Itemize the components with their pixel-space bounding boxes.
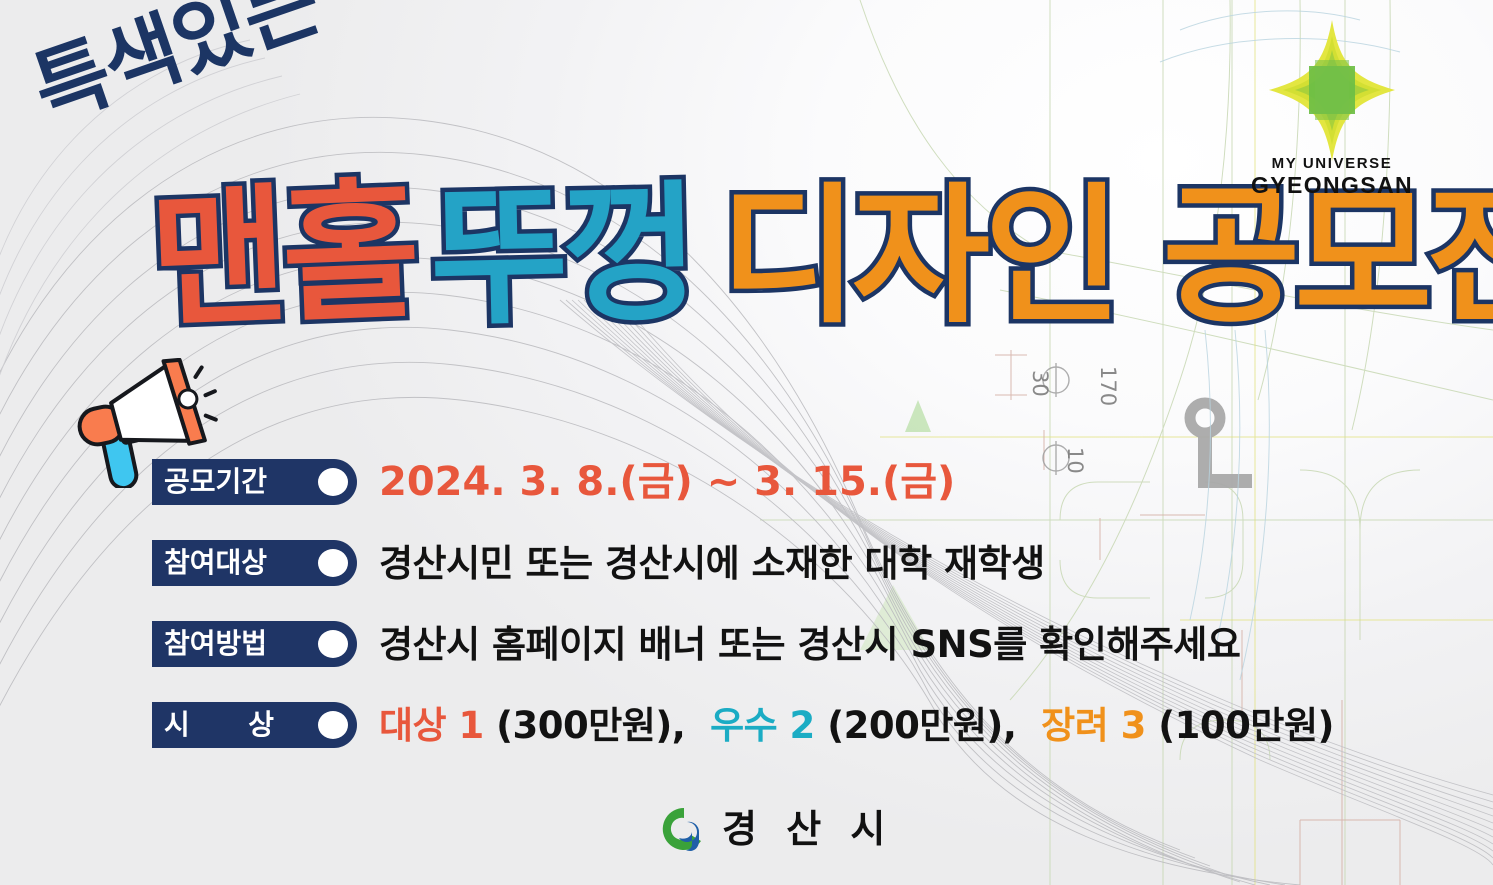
prize-name-encouragement: 장려 3 [1041, 704, 1146, 747]
pill-dot-icon [318, 549, 348, 577]
prize-amount-excellence: (200만원), [827, 704, 1016, 747]
brand-line-1: MY UNIVERSE [1232, 155, 1432, 172]
pill-dot-icon [318, 468, 348, 496]
info-row-period: 공모기간 2024. 3. 8.(금) ~ 3. 15.(금) [152, 452, 1432, 512]
prize-name-excellence: 우수 2 [710, 704, 815, 747]
info-row-how-to-apply: 참여방법 경산시 홈페이지 배너 또는 경산시 SNS를 확인해주세요 [152, 614, 1432, 674]
prize-name-grand: 대상 1 [379, 704, 484, 747]
pill-label-how-to-apply: 참여방법 [164, 630, 267, 658]
pill-label-eligibility: 참여대상 [164, 549, 267, 577]
gyeongsan-brand-mark: MY UNIVERSE GYEONGSAN [1232, 18, 1432, 198]
brand-line-2: GYEONGSAN [1232, 172, 1432, 198]
label-pill-period: 공모기간 [152, 459, 357, 505]
sub-headline: 특색있는 [24, 0, 328, 134]
prize-amount-grand: (300만원), [496, 704, 685, 747]
pill-label-period: 공모기간 [164, 468, 267, 496]
gyeongsan-star-icon [1267, 18, 1397, 163]
title-word-manhole: 맨홀 [147, 177, 417, 337]
info-row-prizes: 시 상 대상 1 (300만원), 우수 2 (200만원), 장려 3 (10… [152, 695, 1432, 755]
info-row-eligibility: 참여대상 경산시민 또는 경산시에 소재한 대학 재학생 [152, 533, 1432, 593]
pill-label-prizes: 시 상 [164, 711, 274, 739]
pill-dot-icon [318, 630, 348, 658]
label-pill-prizes: 시 상 [152, 702, 357, 748]
footer-city-logo: 경 산 시 [660, 805, 893, 853]
info-value-prizes: 대상 1 (300만원), 우수 2 (200만원), 장려 3 (100만원) [379, 707, 1334, 744]
gyeongsan-city-logo-icon [660, 805, 708, 853]
title-word-lid: 뚜껑 [428, 179, 695, 334]
footer-city-name: 경 산 시 [722, 810, 893, 848]
prize-amount-encouragement: (100만원) [1158, 704, 1334, 747]
label-pill-eligibility: 참여대상 [152, 540, 357, 586]
info-value-how-to-apply: 경산시 홈페이지 배너 또는 경산시 SNS를 확인해주세요 [379, 626, 1240, 663]
dim-170-label: 170 [1096, 366, 1120, 406]
pill-dot-icon [318, 711, 348, 739]
info-value-period: 2024. 3. 8.(금) ~ 3. 15.(금) [379, 462, 955, 502]
page-title: 맨홀뚜껑디자인 공모전 [150, 182, 1493, 332]
info-value-eligibility: 경산시민 또는 경산시에 소재한 대학 재학생 [379, 545, 1045, 582]
title-word-design-contest: 디자인 공모전 [720, 182, 1493, 332]
info-list: 공모기간 2024. 3. 8.(금) ~ 3. 15.(금) 참여대상 경산시… [152, 452, 1432, 776]
label-pill-how-to-apply: 참여방법 [152, 621, 357, 667]
poster-canvas: 30 170 10 [0, 0, 1493, 885]
dim-30-label: 30 [1028, 370, 1052, 397]
